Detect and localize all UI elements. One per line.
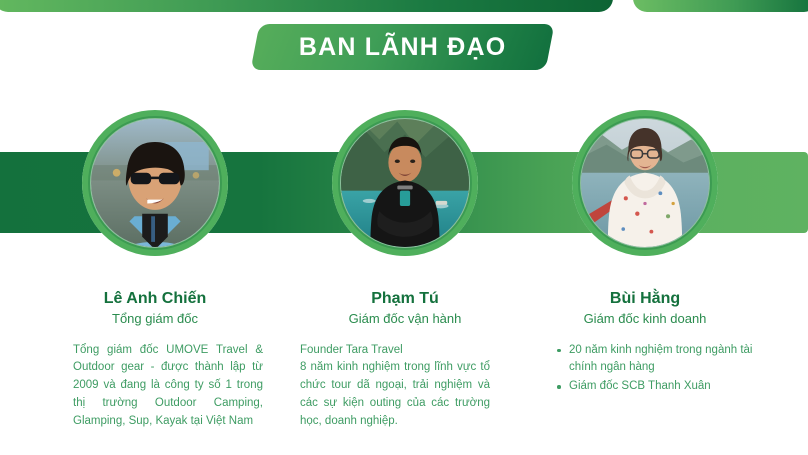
leader-bio: Tổng giám đốc UMOVE Travel & Outdoor gea… (73, 342, 263, 431)
leader-bio-bullets: 20 năm kinh nghiệm trong ngành tài chính… (553, 342, 753, 396)
leader-bio: 20 năm kinh nghiệm trong ngành tài chính… (553, 342, 753, 396)
avatar-inner-ring (338, 116, 472, 250)
leader-name: Bùi Hằng (523, 289, 767, 309)
leader-role: Tổng giám đốc (33, 310, 277, 328)
leadership-list: Lê Anh Chiến Tổng giám đốc Tổng giám đốc… (0, 0, 808, 455)
avatar (82, 110, 228, 256)
leader-name: Lê Anh Chiến (33, 289, 277, 309)
leader-card: Bùi Hằng Giám đốc kinh doanh 20 năm kinh… (523, 110, 767, 397)
avatar (572, 110, 718, 256)
avatar (332, 110, 478, 256)
list-item: Giám đốc SCB Thanh Xuân (567, 378, 753, 396)
leader-bio-lead: Founder Tara Travel (300, 342, 490, 360)
leader-role: Giám đốc kinh doanh (523, 310, 767, 328)
leader-role: Giám đốc vận hành (283, 310, 527, 328)
leader-bio-text: 8 năm kinh nghiệm trong lĩnh vực tổ chức… (300, 359, 490, 430)
leader-card: Phạm Tú Giám đốc vận hành Founder Tara T… (283, 110, 527, 431)
list-item: 20 năm kinh nghiệm trong ngành tài chính… (567, 342, 753, 378)
avatar-inner-ring (88, 116, 222, 250)
leader-name: Phạm Tú (283, 289, 527, 309)
leader-bio: Founder Tara Travel 8 năm kinh nghiệm tr… (300, 342, 490, 431)
leader-card: Lê Anh Chiến Tổng giám đốc Tổng giám đốc… (33, 110, 277, 431)
avatar-inner-ring (578, 116, 712, 250)
